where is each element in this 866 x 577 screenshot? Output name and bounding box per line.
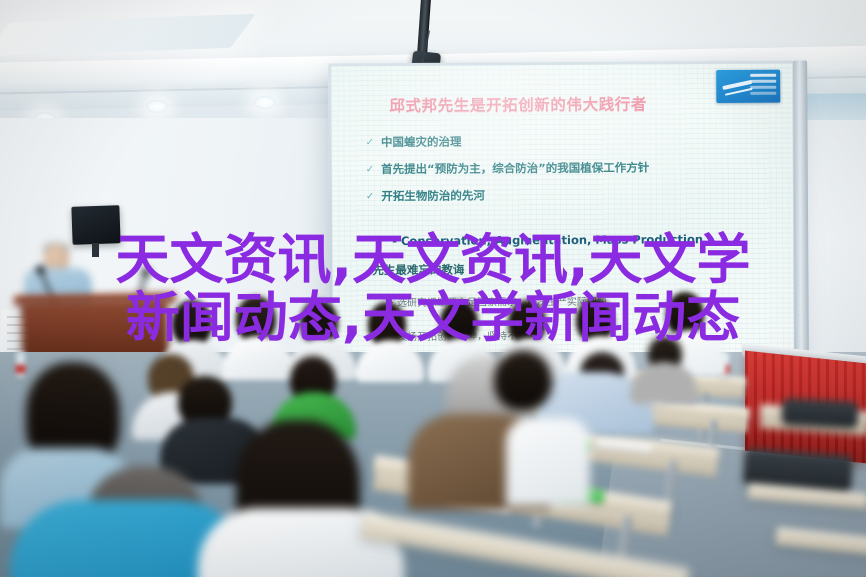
slide-bullet-text: 首先提出“预防为主，综合防治”的我国植保工作方针: [381, 162, 649, 177]
water-bottle: [16, 352, 25, 378]
screenshot-root: 邱式邦先生是开拓创新的伟大践行者 ✓ 中国蝗灾的治理 ✓ 首先提出“预防为主，综…: [0, 0, 866, 577]
check-icon: ✓: [366, 165, 374, 175]
logo-swoosh: [722, 80, 752, 90]
audience-torso: [506, 418, 590, 506]
slide-subtitle-english: - Conservation, Augmentation, Mass Produ…: [392, 232, 703, 248]
ceiling-light-panel: [0, 14, 256, 56]
slide-bullet-list: ✓ 中国蝗灾的治理 ✓ 首先提出“预防为主，综合防治”的我国植保工作方针 ✓ 开…: [366, 134, 794, 218]
logo-wordmark: [750, 74, 776, 77]
downlight-icon: [146, 100, 168, 113]
slide-subbullet: · 选研究课题要立足国家需求，解决生产实际问题: [391, 293, 607, 309]
screen-right-edge: [793, 61, 809, 357]
slide-bullet-text: 中国蝗灾的治理: [381, 136, 462, 150]
slide-bullet-item: ✓ 中国蝗灾的治理: [366, 134, 794, 150]
slide-bullet-text: 开拓生物防治的先河: [381, 190, 485, 204]
check-icon: ✓: [366, 193, 374, 203]
slide-bullet-item: ✓ 开拓生物防治的先河: [366, 188, 794, 204]
slide-section-heading: 先生最难忘的教诲: [372, 262, 464, 279]
organization-logo-icon: [716, 70, 780, 103]
podium-monitor: [71, 205, 120, 245]
chair-back: [781, 398, 858, 428]
audience-head: [494, 350, 552, 410]
check-icon: ✓: [366, 138, 374, 148]
slide-bullet-item: ✓ 首先提出“预防为主，综合防治”的我国植保工作方针: [366, 161, 794, 177]
downlight-icon: [254, 96, 276, 109]
monitor-stand: [92, 243, 99, 257]
